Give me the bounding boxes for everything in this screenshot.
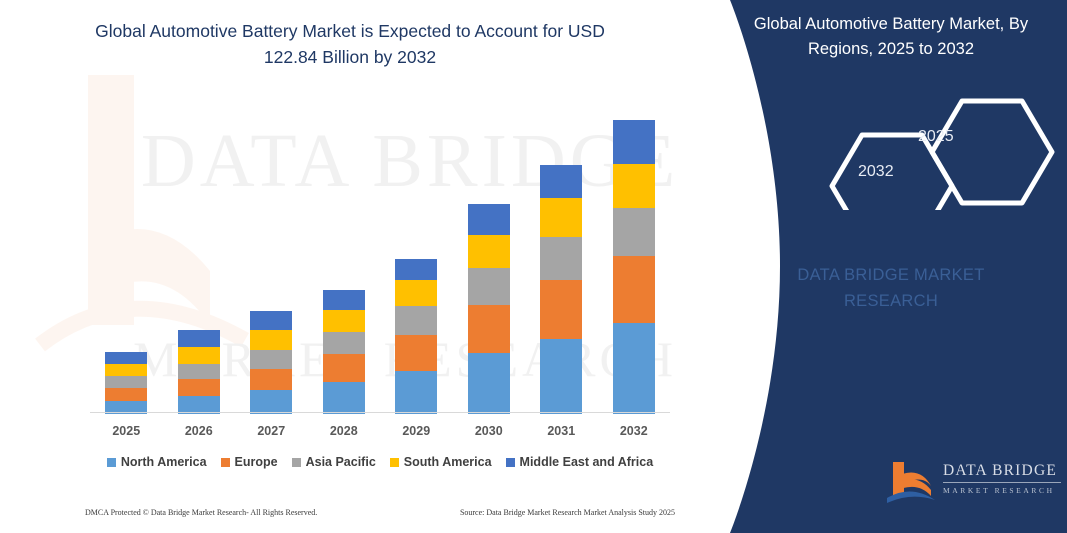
bar-stack[interactable]: [250, 311, 292, 414]
footer-copyright: DMCA Protected © Data Bridge Market Rese…: [85, 508, 317, 517]
logo-divider: [943, 482, 1061, 483]
bar-segment[interactable]: [178, 347, 220, 364]
bar-segment[interactable]: [178, 330, 220, 347]
hexagon-graphic: [810, 95, 1067, 210]
legend-item[interactable]: Asia Pacific: [292, 455, 376, 469]
legend-item[interactable]: Middle East and Africa: [506, 455, 654, 469]
brand-panel-content: Global Automotive Battery Market, By Reg…: [715, 0, 1067, 533]
x-axis-label-2030: 2030: [454, 424, 524, 438]
bar-stack[interactable]: [613, 120, 655, 414]
bar-segment[interactable]: [613, 208, 655, 256]
legend-swatch-icon: [221, 458, 230, 467]
bar-stack[interactable]: [178, 330, 220, 414]
x-axis-label-2032: 2032: [599, 424, 669, 438]
legend-label: Middle East and Africa: [520, 455, 654, 469]
bar-segment[interactable]: [395, 335, 437, 371]
legend-item[interactable]: North America: [107, 455, 207, 469]
bar-segment[interactable]: [468, 235, 510, 268]
bar-segment[interactable]: [613, 164, 655, 208]
bar-segment[interactable]: [250, 330, 292, 349]
brand-name-text: DATA BRIDGE MARKET RESEARCH: [735, 262, 1047, 314]
legend-item[interactable]: Europe: [221, 455, 278, 469]
bar-segment[interactable]: [105, 376, 147, 388]
bar-segment[interactable]: [613, 323, 655, 414]
plot-area: [90, 120, 670, 414]
legend-label: North America: [121, 455, 207, 469]
chart-panel: DATA BRIDGE MARKET RESEARCH Global Autom…: [0, 0, 700, 533]
bar-segment[interactable]: [613, 120, 655, 164]
bar-segment[interactable]: [540, 165, 582, 197]
legend-label: South America: [404, 455, 492, 469]
bar-stack[interactable]: [105, 352, 147, 414]
bar-segment[interactable]: [468, 268, 510, 305]
legend-swatch-icon: [506, 458, 515, 467]
bar-segment[interactable]: [250, 369, 292, 391]
chart-legend: North AmericaEuropeAsia PacificSouth Ame…: [90, 455, 670, 469]
bar-segment[interactable]: [323, 290, 365, 310]
bar-segment[interactable]: [395, 371, 437, 414]
logo-wordmark: DATA BRIDGE MARKET RESEARCH: [943, 462, 1061, 495]
bar-segment[interactable]: [178, 364, 220, 380]
bar-segment[interactable]: [540, 339, 582, 414]
legend-label: Europe: [235, 455, 278, 469]
footer: DMCA Protected © Data Bridge Market Rese…: [85, 508, 675, 517]
x-axis-label-2028: 2028: [309, 424, 379, 438]
legend-item[interactable]: South America: [390, 455, 492, 469]
legend-swatch-icon: [292, 458, 301, 467]
footer-source: Source: Data Bridge Market Research Mark…: [460, 508, 675, 517]
bar-segment[interactable]: [105, 364, 147, 376]
brand-name-line1: DATA BRIDGE MARKET: [735, 262, 1047, 288]
bar-segment[interactable]: [323, 332, 365, 355]
bar-segment[interactable]: [613, 256, 655, 323]
bar-segment[interactable]: [540, 237, 582, 280]
bar-stack[interactable]: [540, 165, 582, 414]
brand-name-line2: RESEARCH: [735, 288, 1047, 314]
panel-heading: Global Automotive Battery Market, By Reg…: [725, 12, 1057, 62]
bar-stack[interactable]: [323, 290, 365, 414]
bar-segment[interactable]: [395, 259, 437, 281]
bar-segment[interactable]: [540, 198, 582, 237]
bar-segment[interactable]: [468, 353, 510, 414]
hex-label-2025: 2025: [918, 128, 954, 146]
legend-swatch-icon: [107, 458, 116, 467]
bar-segment[interactable]: [250, 350, 292, 369]
logo-b-mark-icon: [885, 458, 937, 508]
x-axis-label-2025: 2025: [91, 424, 161, 438]
bar-segment[interactable]: [323, 310, 365, 332]
hex-label-2032: 2032: [858, 163, 894, 181]
x-axis-line: [90, 412, 670, 413]
logo-name: DATA BRIDGE: [943, 462, 1061, 480]
x-axis-label-2027: 2027: [236, 424, 306, 438]
x-axis-labels: 20252026202720282029203020312032: [90, 424, 670, 446]
bar-segment[interactable]: [105, 352, 147, 364]
bar-segment[interactable]: [105, 388, 147, 401]
bar-segment[interactable]: [468, 305, 510, 353]
x-axis-label-2026: 2026: [164, 424, 234, 438]
x-axis-label-2029: 2029: [381, 424, 451, 438]
bar-segment[interactable]: [178, 379, 220, 396]
bar-stack[interactable]: [468, 204, 510, 414]
infographic-slide: DATA BRIDGE MARKET RESEARCH Global Autom…: [0, 0, 1067, 533]
company-logo: DATA BRIDGE MARKET RESEARCH: [885, 458, 1065, 510]
bar-segment[interactable]: [540, 280, 582, 339]
bar-segment[interactable]: [323, 354, 365, 381]
bar-segment[interactable]: [395, 306, 437, 335]
x-axis-label-2031: 2031: [526, 424, 596, 438]
legend-swatch-icon: [390, 458, 399, 467]
page-title: Global Automotive Battery Market is Expe…: [70, 18, 630, 70]
logo-tagline: MARKET RESEARCH: [943, 486, 1061, 495]
bar-segment[interactable]: [250, 311, 292, 330]
bar-segment[interactable]: [323, 382, 365, 414]
bar-stack[interactable]: [395, 259, 437, 414]
legend-label: Asia Pacific: [306, 455, 376, 469]
bar-segment[interactable]: [468, 204, 510, 235]
bar-segment[interactable]: [250, 390, 292, 414]
bar-segment[interactable]: [395, 280, 437, 306]
